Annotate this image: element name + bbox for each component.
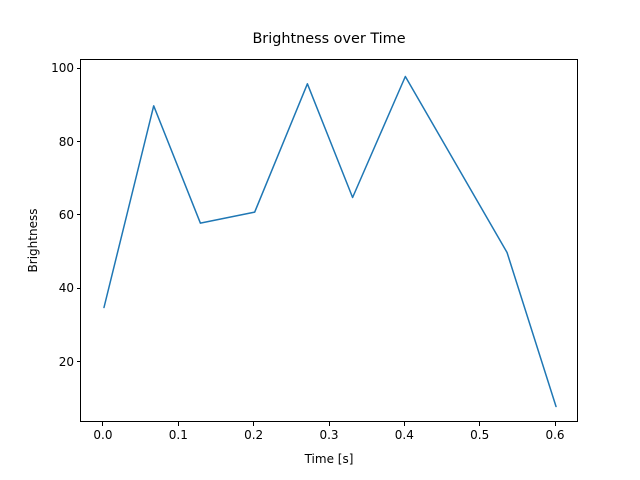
figure-canvas: Brightness over Time Time [s] Brightness…	[0, 0, 640, 480]
y-tick-label: 40	[59, 281, 74, 295]
y-tick-label: 80	[59, 135, 74, 149]
x-tick-label: 0.1	[169, 428, 188, 442]
y-tick-mark	[77, 68, 81, 69]
y-tick-label: 60	[59, 208, 74, 222]
page-title: Brightness over Time	[80, 30, 578, 48]
x-tick-label: 0.6	[545, 428, 564, 442]
x-tick-label: 0.2	[244, 428, 263, 442]
y-tick-mark	[77, 361, 81, 362]
x-tick-mark	[479, 422, 480, 426]
x-tick-mark	[555, 422, 556, 426]
x-tick-label: 0.3	[319, 428, 338, 442]
x-tick-mark	[253, 422, 254, 426]
x-tick-label: 0.0	[93, 428, 112, 442]
x-tick-mark	[178, 422, 179, 426]
y-tick-mark	[77, 288, 81, 289]
series-polyline	[104, 77, 556, 407]
y-tick-label: 20	[59, 355, 74, 369]
x-tick-label: 0.4	[395, 428, 414, 442]
plot-area	[80, 59, 578, 422]
line-series-brightness	[81, 60, 579, 423]
y-axis-label: Brightness	[26, 59, 40, 422]
x-tick-mark	[102, 422, 103, 426]
y-tick-label: 100	[51, 61, 74, 75]
x-tick-mark	[329, 422, 330, 426]
y-tick-mark	[77, 141, 81, 142]
x-axis-label: Time [s]	[80, 452, 578, 466]
x-tick-mark	[404, 422, 405, 426]
y-tick-mark	[77, 214, 81, 215]
x-tick-label: 0.5	[470, 428, 489, 442]
